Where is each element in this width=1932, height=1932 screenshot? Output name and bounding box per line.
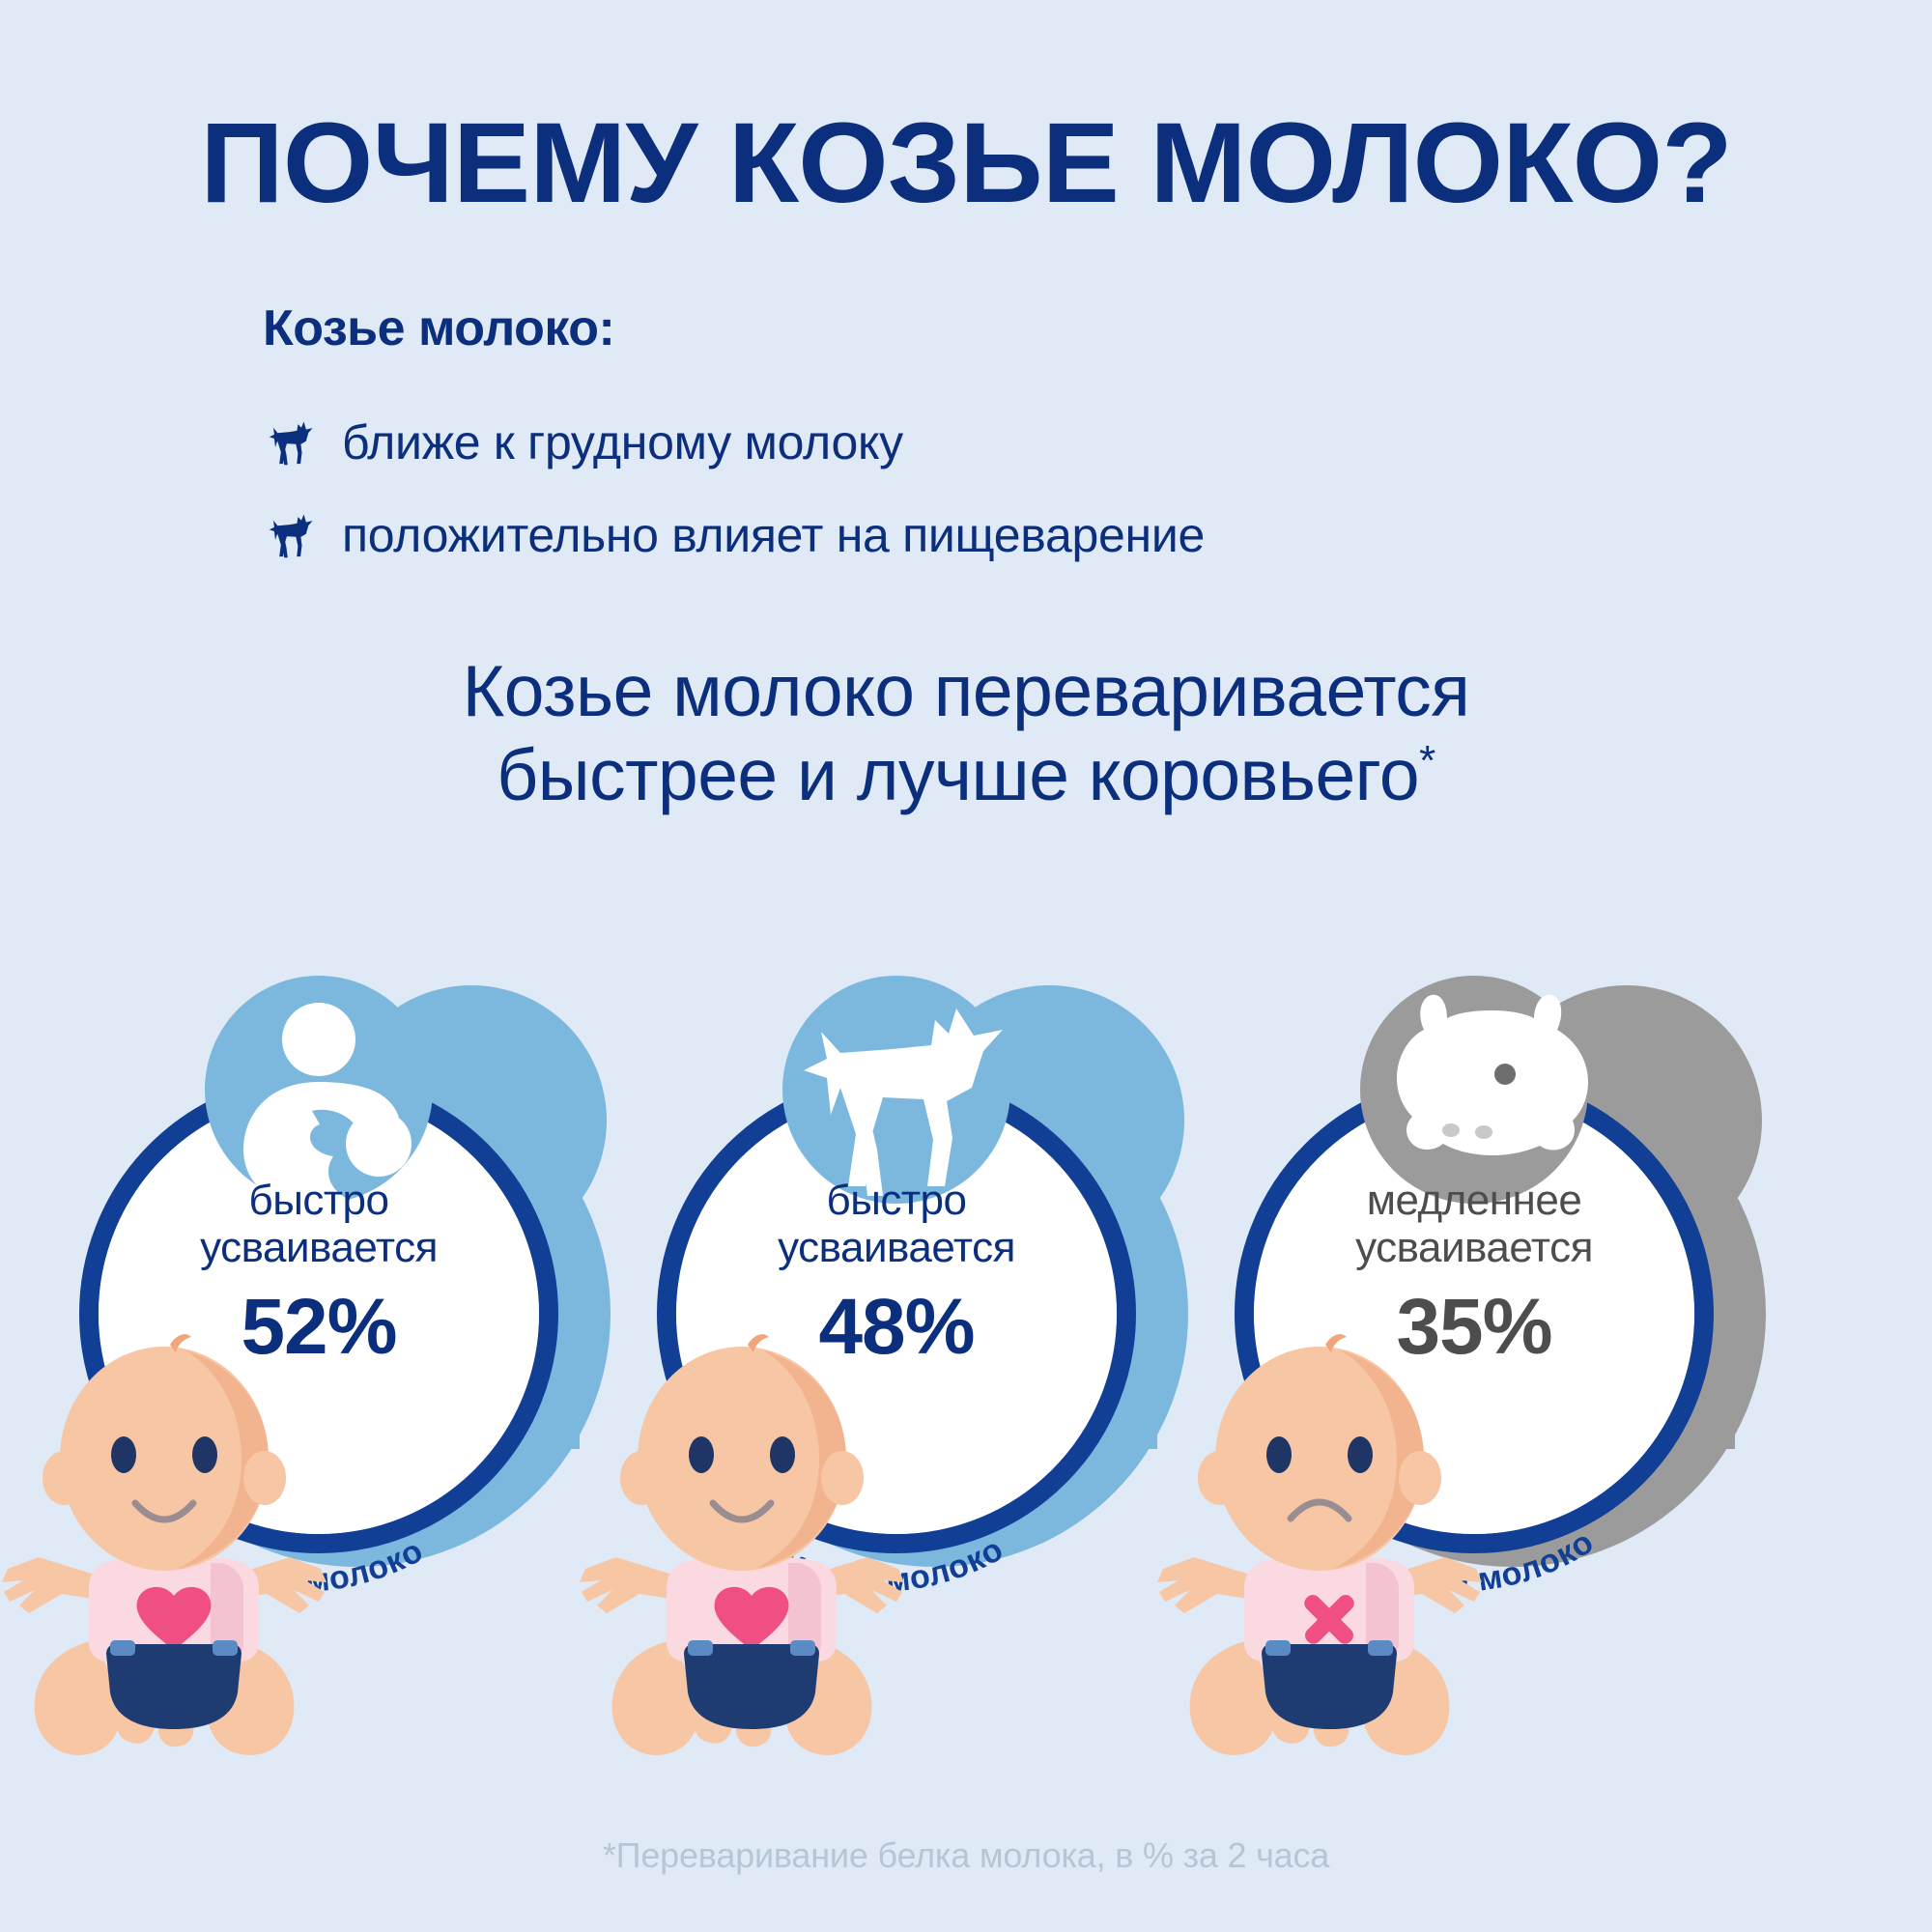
baby-eye-right <box>1348 1436 1373 1473</box>
baby-diaper <box>106 1640 241 1729</box>
baby-head <box>620 1334 864 1571</box>
goat-icon <box>263 417 317 468</box>
baby-illustration-happy <box>558 1333 945 1739</box>
baby-eye-left <box>111 1436 136 1473</box>
card-line-1: быстро <box>159 1177 478 1224</box>
card-line-2: усваивается <box>737 1224 1056 1271</box>
list-item: ближе к грудному молоку <box>263 396 1712 489</box>
baby-eye-right <box>770 1436 795 1473</box>
baby-illustration-sad <box>1136 1333 1522 1739</box>
card-line-2: усваивается <box>159 1224 478 1271</box>
comparison-cards: Грудное молоко быстро усваивается 52% <box>0 927 1932 1729</box>
baby-diaper <box>684 1640 819 1729</box>
headline-line-1: Козье молоко переваривается <box>463 650 1470 731</box>
baby-diaper <box>1262 1640 1397 1729</box>
list-item-label: ближе к грудному молоку <box>342 414 903 470</box>
baby-eye-right <box>192 1436 217 1473</box>
headline-line-2: быстрее и лучше коровьего <box>497 734 1419 815</box>
footnote: *Переваривание белка молока, в % за 2 ча… <box>0 1835 1932 1876</box>
headline: Козье молоко переваривается быстрее и лу… <box>0 649 1932 817</box>
goat-icon <box>782 976 1010 1204</box>
baby-illustration-happy <box>0 1333 367 1739</box>
infographic-root: ПОЧЕМУ КОЗЬЕ МОЛОКО? Козье молоко: ближе… <box>0 0 1932 1932</box>
benefit-list: ближе к грудному молоку положительно вли… <box>263 396 1712 582</box>
card-line-1: медленнее <box>1315 1177 1634 1224</box>
baby-head <box>1198 1334 1441 1571</box>
list-item: положительно влияет на пищеварение <box>263 489 1712 582</box>
cow-icon <box>1360 976 1588 1204</box>
list-item-label: положительно влияет на пищеварение <box>342 507 1205 563</box>
headline-asterisk: * <box>1419 737 1435 784</box>
card-cow-milk: Коровье молоко медленнее усваивается 35% <box>1194 927 1832 1729</box>
baby-eye-left <box>689 1436 714 1473</box>
card-line-2: усваивается <box>1315 1224 1634 1271</box>
baby-eye-left <box>1266 1436 1292 1473</box>
baby-head <box>43 1334 286 1571</box>
goat-icon <box>263 510 317 560</box>
lead-heading: Козье молоко: <box>263 299 614 357</box>
card-line-1: быстро <box>737 1177 1056 1224</box>
page-title: ПОЧЕМУ КОЗЬЕ МОЛОКО? <box>0 106 1932 220</box>
